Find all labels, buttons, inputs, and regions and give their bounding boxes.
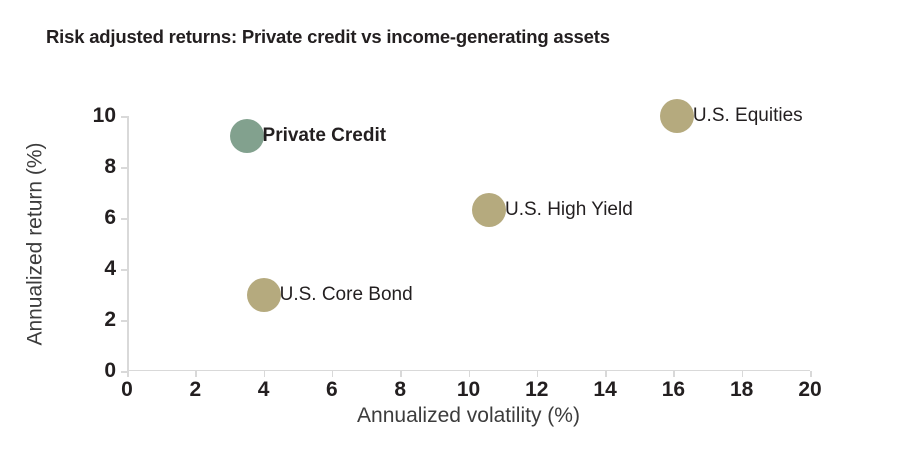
- x-tick-label: 0: [121, 378, 133, 402]
- x-tick-mark: [332, 371, 334, 377]
- x-tick-mark: [469, 371, 471, 377]
- y-axis-title: Annualized return (%): [22, 116, 50, 371]
- x-tick-label: 16: [662, 378, 685, 402]
- x-tick-mark: [605, 371, 607, 377]
- scatter-point-label: U.S. Equities: [693, 105, 803, 127]
- x-tick-label: 8: [394, 378, 406, 402]
- x-axis-title: Annualized volatility (%): [127, 404, 810, 428]
- y-tick-label: 2: [104, 308, 116, 332]
- plot-area: 0246810 02468101214161820 Private Credit…: [127, 116, 810, 371]
- x-tick-mark: [127, 371, 129, 377]
- x-tick-mark: [810, 371, 812, 377]
- x-tick-label: 14: [593, 378, 616, 402]
- x-tick-label: 2: [189, 378, 201, 402]
- x-tick-label: 4: [258, 378, 270, 402]
- x-axis-title-text: Annualized volatility (%): [357, 404, 580, 427]
- x-tick-mark: [537, 371, 539, 377]
- y-tick-label: 8: [104, 155, 116, 179]
- y-tick-label: 0: [104, 359, 116, 383]
- y-axis-title-text: Annualized return (%): [24, 142, 48, 345]
- y-tick-mark: [121, 320, 127, 322]
- scatter-point-dot[interactable]: [247, 278, 281, 312]
- y-tick-mark: [121, 167, 127, 169]
- scatter-point-label: U.S. High Yield: [505, 199, 633, 221]
- x-tick-mark: [264, 371, 266, 377]
- y-tick-label: 4: [104, 257, 116, 281]
- y-axis-line: [127, 116, 129, 371]
- chart-title: Risk adjusted returns: Private credit vs…: [46, 26, 610, 48]
- scatter-point-dot[interactable]: [660, 99, 694, 133]
- x-tick-mark: [400, 371, 402, 377]
- x-tick-mark: [195, 371, 197, 377]
- x-tick-label: 18: [730, 378, 753, 402]
- x-tick-label: 20: [798, 378, 821, 402]
- x-tick-mark: [673, 371, 675, 377]
- y-tick-label: 6: [104, 206, 116, 230]
- x-tick-label: 10: [457, 378, 480, 402]
- y-tick-label: 10: [93, 104, 116, 128]
- x-tick-label: 12: [525, 378, 548, 402]
- scatter-point-label: U.S. Core Bond: [280, 284, 413, 306]
- y-tick-mark: [121, 116, 127, 118]
- y-tick-mark: [121, 269, 127, 271]
- scatter-point-label: Private Credit: [263, 125, 387, 147]
- x-tick-mark: [742, 371, 744, 377]
- y-tick-mark: [121, 218, 127, 220]
- x-tick-label: 6: [326, 378, 338, 402]
- scatter-point-dot[interactable]: [230, 119, 264, 153]
- scatter-point-dot[interactable]: [472, 193, 506, 227]
